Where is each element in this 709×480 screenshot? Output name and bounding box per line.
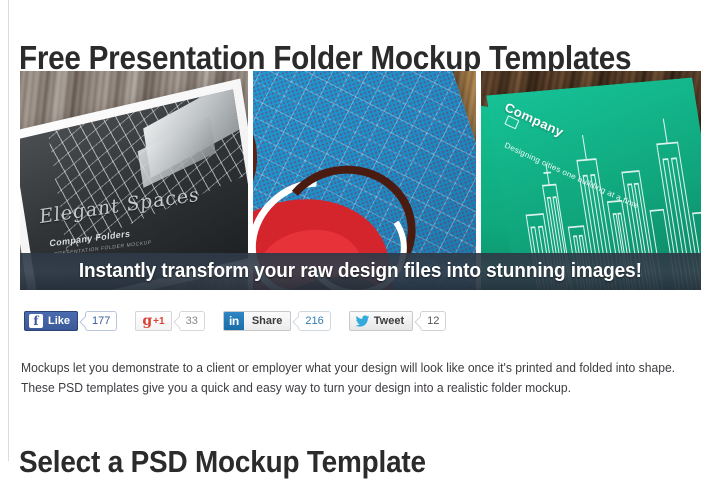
google-plus-icon: g bbox=[142, 314, 152, 328]
section-heading: Select a PSD Mockup Template bbox=[19, 444, 426, 480]
twitter-bird-icon bbox=[355, 314, 370, 328]
facebook-like-count[interactable]: 177 bbox=[85, 311, 117, 331]
googleplus-plusone-label: +1 bbox=[153, 316, 164, 327]
page-left-gutter bbox=[0, 0, 9, 461]
facebook-like-button[interactable]: f Like bbox=[24, 311, 78, 331]
linkedin-group: in Share 216 bbox=[223, 311, 331, 331]
googleplus-group: g +1 33 bbox=[135, 311, 204, 331]
hero-banner: Instantly transform your raw design file… bbox=[20, 253, 701, 290]
intro-paragraph-line-1: Mockups let you demonstrate to a client … bbox=[21, 358, 681, 378]
intro-paragraph: Mockups let you demonstrate to a client … bbox=[21, 358, 701, 398]
facebook-like-group: f Like 177 bbox=[24, 311, 117, 331]
twitter-group: Tweet 12 bbox=[349, 311, 447, 331]
googleplus-plusone-button[interactable]: g +1 bbox=[135, 311, 171, 331]
facebook-like-label: Like bbox=[48, 315, 70, 327]
googleplus-plusone-count[interactable]: 33 bbox=[179, 311, 205, 331]
twitter-tweet-button[interactable]: Tweet bbox=[349, 311, 413, 331]
twitter-tweet-label: Tweet bbox=[374, 315, 404, 327]
linkedin-share-count[interactable]: 216 bbox=[298, 311, 330, 331]
facebook-f-icon: f bbox=[29, 314, 43, 328]
linkedin-share-label: Share bbox=[244, 315, 291, 327]
intro-paragraph-line-2: These PSD templates give you a quick and… bbox=[21, 378, 681, 398]
linkedin-share-button[interactable]: in Share bbox=[223, 311, 292, 331]
hero-banner-text: Instantly transform your raw design file… bbox=[79, 260, 642, 283]
article-page: Free Presentation Folder Mockup Template… bbox=[10, 0, 709, 461]
social-share-bar: f Like 177 g +1 33 in Share 216 bbox=[24, 310, 464, 332]
twitter-tweet-count[interactable]: 12 bbox=[420, 311, 446, 331]
linkedin-in-icon: in bbox=[224, 311, 244, 331]
